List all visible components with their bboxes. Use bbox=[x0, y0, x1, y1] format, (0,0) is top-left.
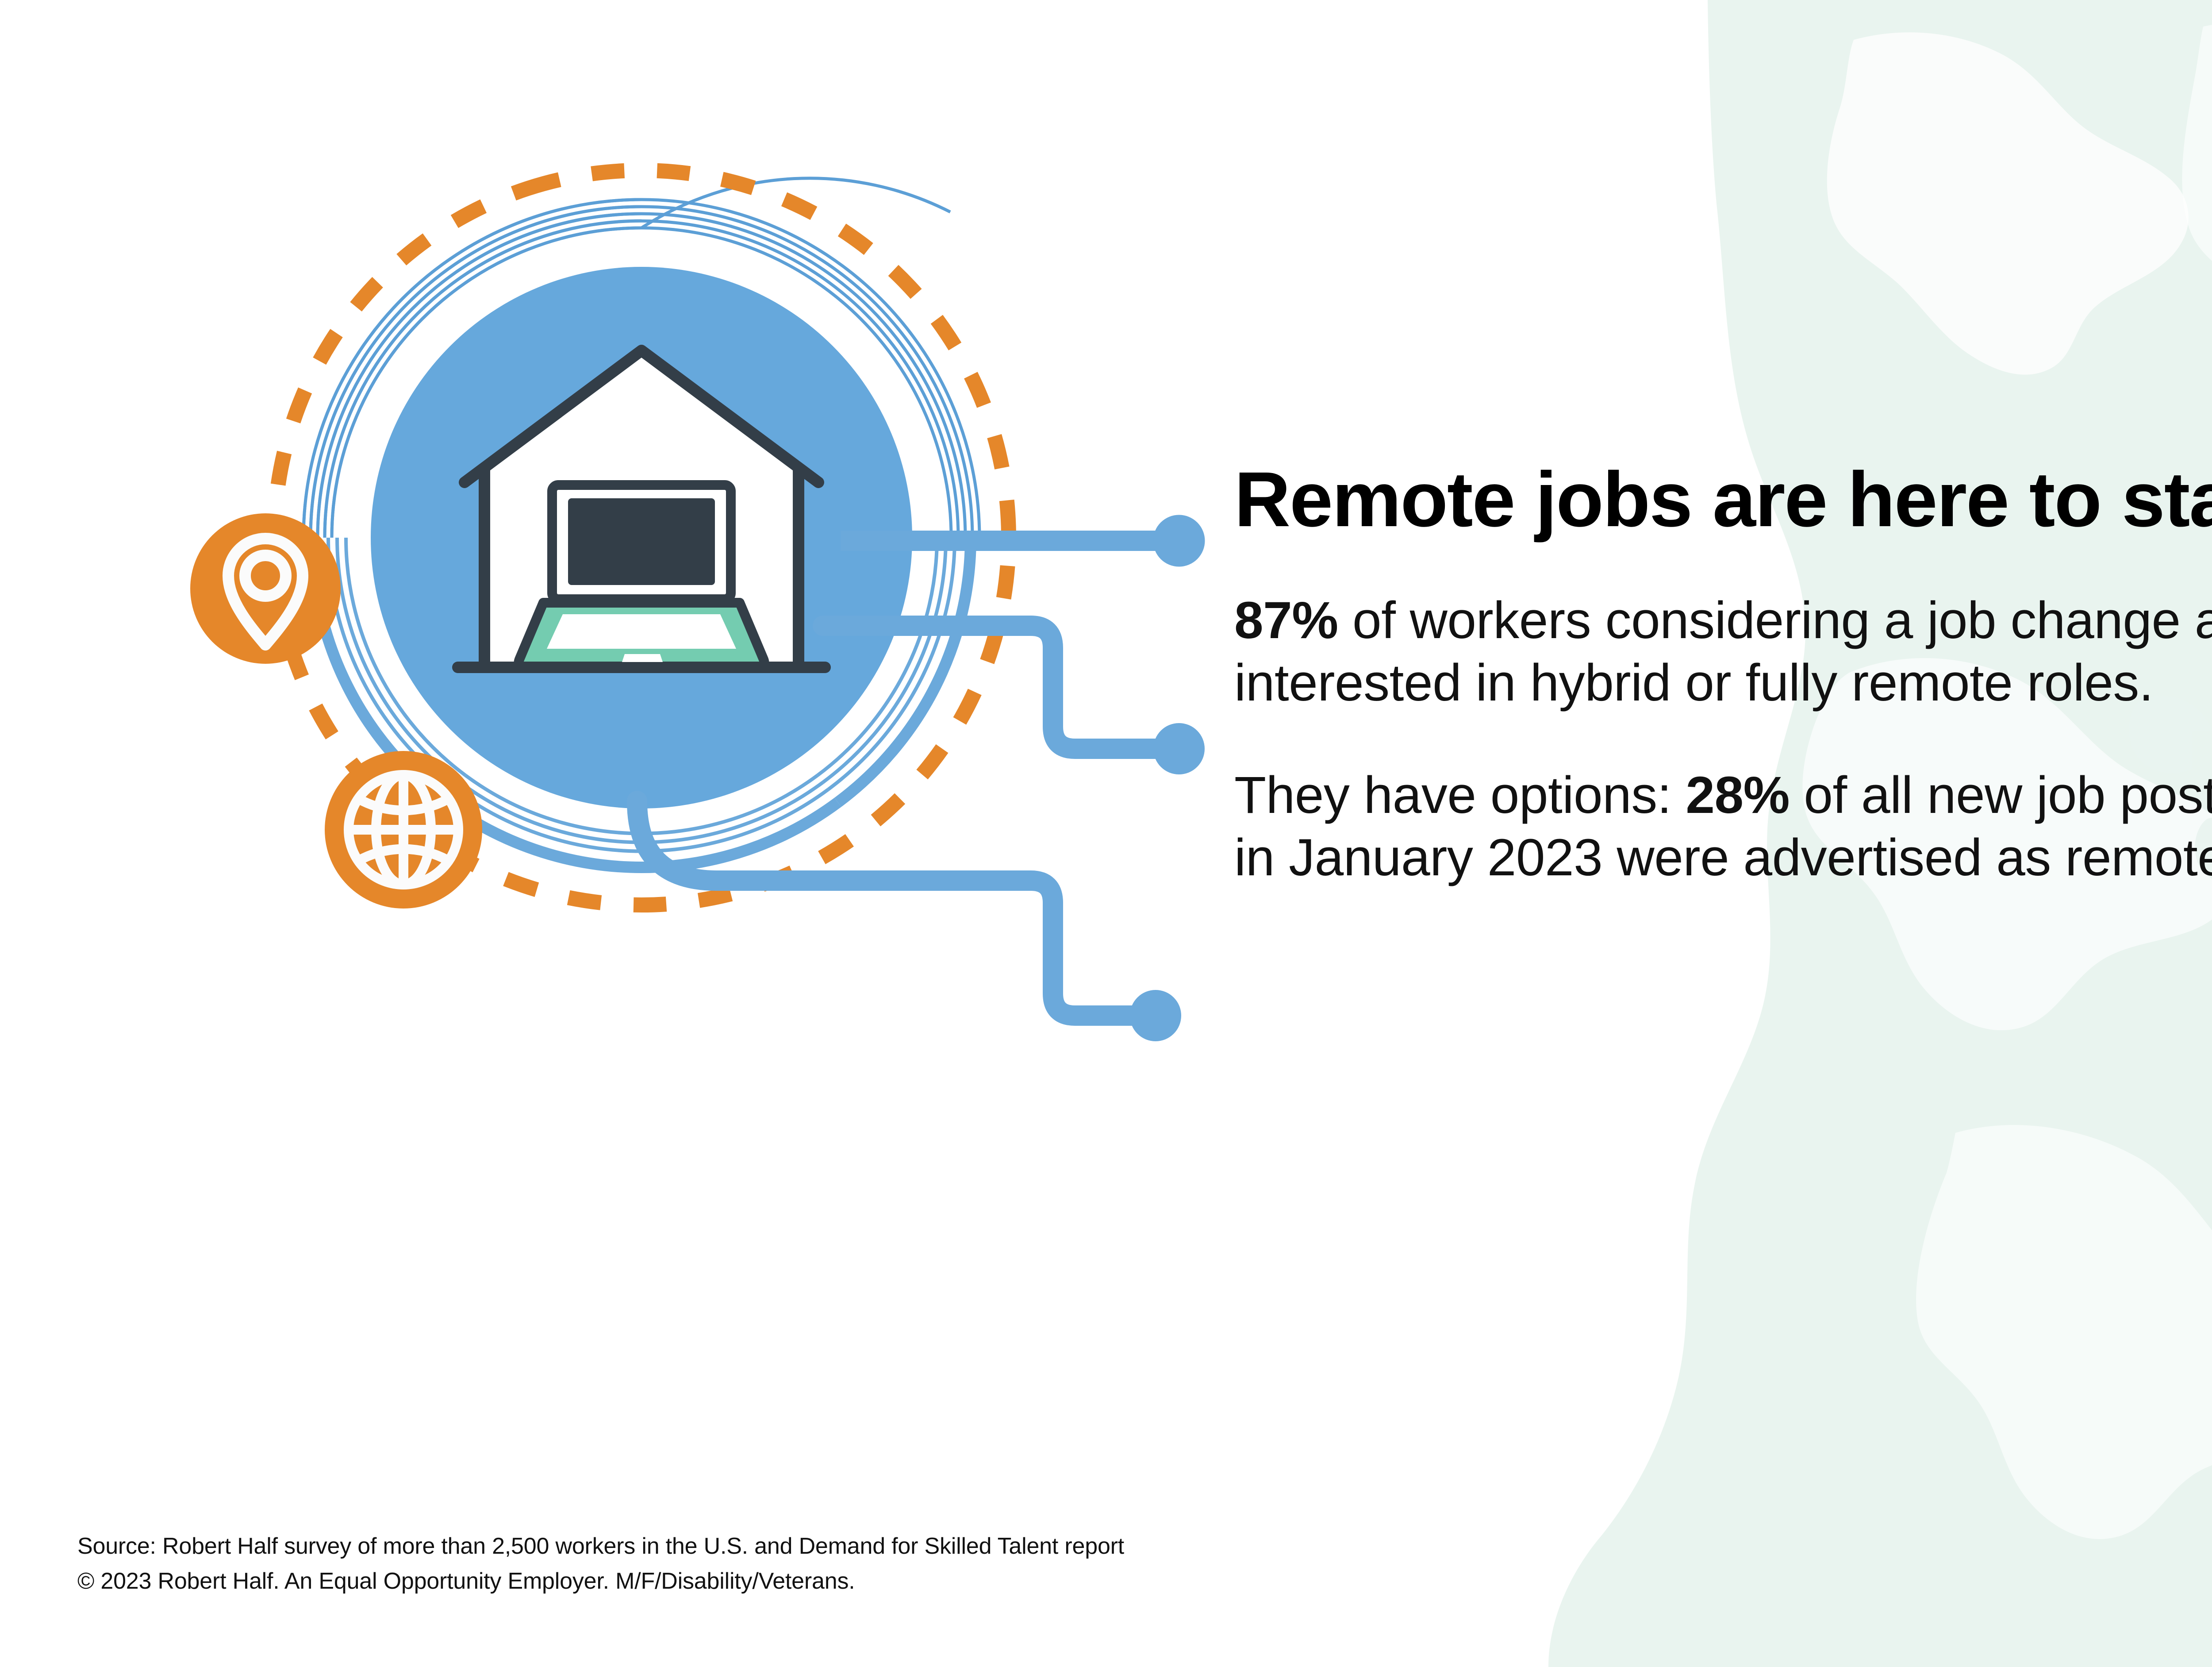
stat-2-line-1: They have options: 28% of all new job po… bbox=[1234, 764, 2212, 827]
stat-1-line-1-rest: of workers considering a job change are bbox=[1338, 591, 2212, 650]
connector-dot-1 bbox=[1153, 515, 1205, 566]
connector-dot-3 bbox=[1130, 990, 1181, 1041]
stat-hybrid-remote-interest: 87% of workers considering a job change … bbox=[1234, 589, 2212, 715]
footer-source-note: Source: Robert Half survey of more than … bbox=[77, 1529, 1124, 1599]
stat-2-line-2: in January 2023 were advertised as remot… bbox=[1234, 827, 2212, 889]
stat-2-value: 28% bbox=[1686, 766, 1790, 824]
stat-1-line-2: interested in hybrid or fully remote rol… bbox=[1234, 652, 2212, 715]
connector-dot-2 bbox=[1153, 723, 1205, 774]
stat-2-line-1-rest: of all new job postings bbox=[1790, 766, 2212, 824]
footer-copyright-line: © 2023 Robert Half. An Equal Opportunity… bbox=[77, 1564, 1124, 1599]
stat-1-line-1: 87% of workers considering a job change … bbox=[1234, 589, 2212, 652]
infographic-canvas: Remote jobs are here to stay. 87% of wor… bbox=[0, 0, 2212, 1667]
location-pin-badge bbox=[190, 513, 341, 664]
text-column: Remote jobs are here to stay. 87% of wor… bbox=[1234, 460, 2212, 889]
footer-source-line: Source: Robert Half survey of more than … bbox=[77, 1529, 1124, 1564]
globe-badge bbox=[325, 751, 482, 909]
stat-2-lead: They have options: bbox=[1234, 766, 1686, 824]
page-title: Remote jobs are here to stay. bbox=[1234, 460, 2212, 540]
stat-1-value: 87% bbox=[1234, 591, 1338, 650]
stat-remote-postings: They have options: 28% of all new job po… bbox=[1234, 764, 2212, 889]
